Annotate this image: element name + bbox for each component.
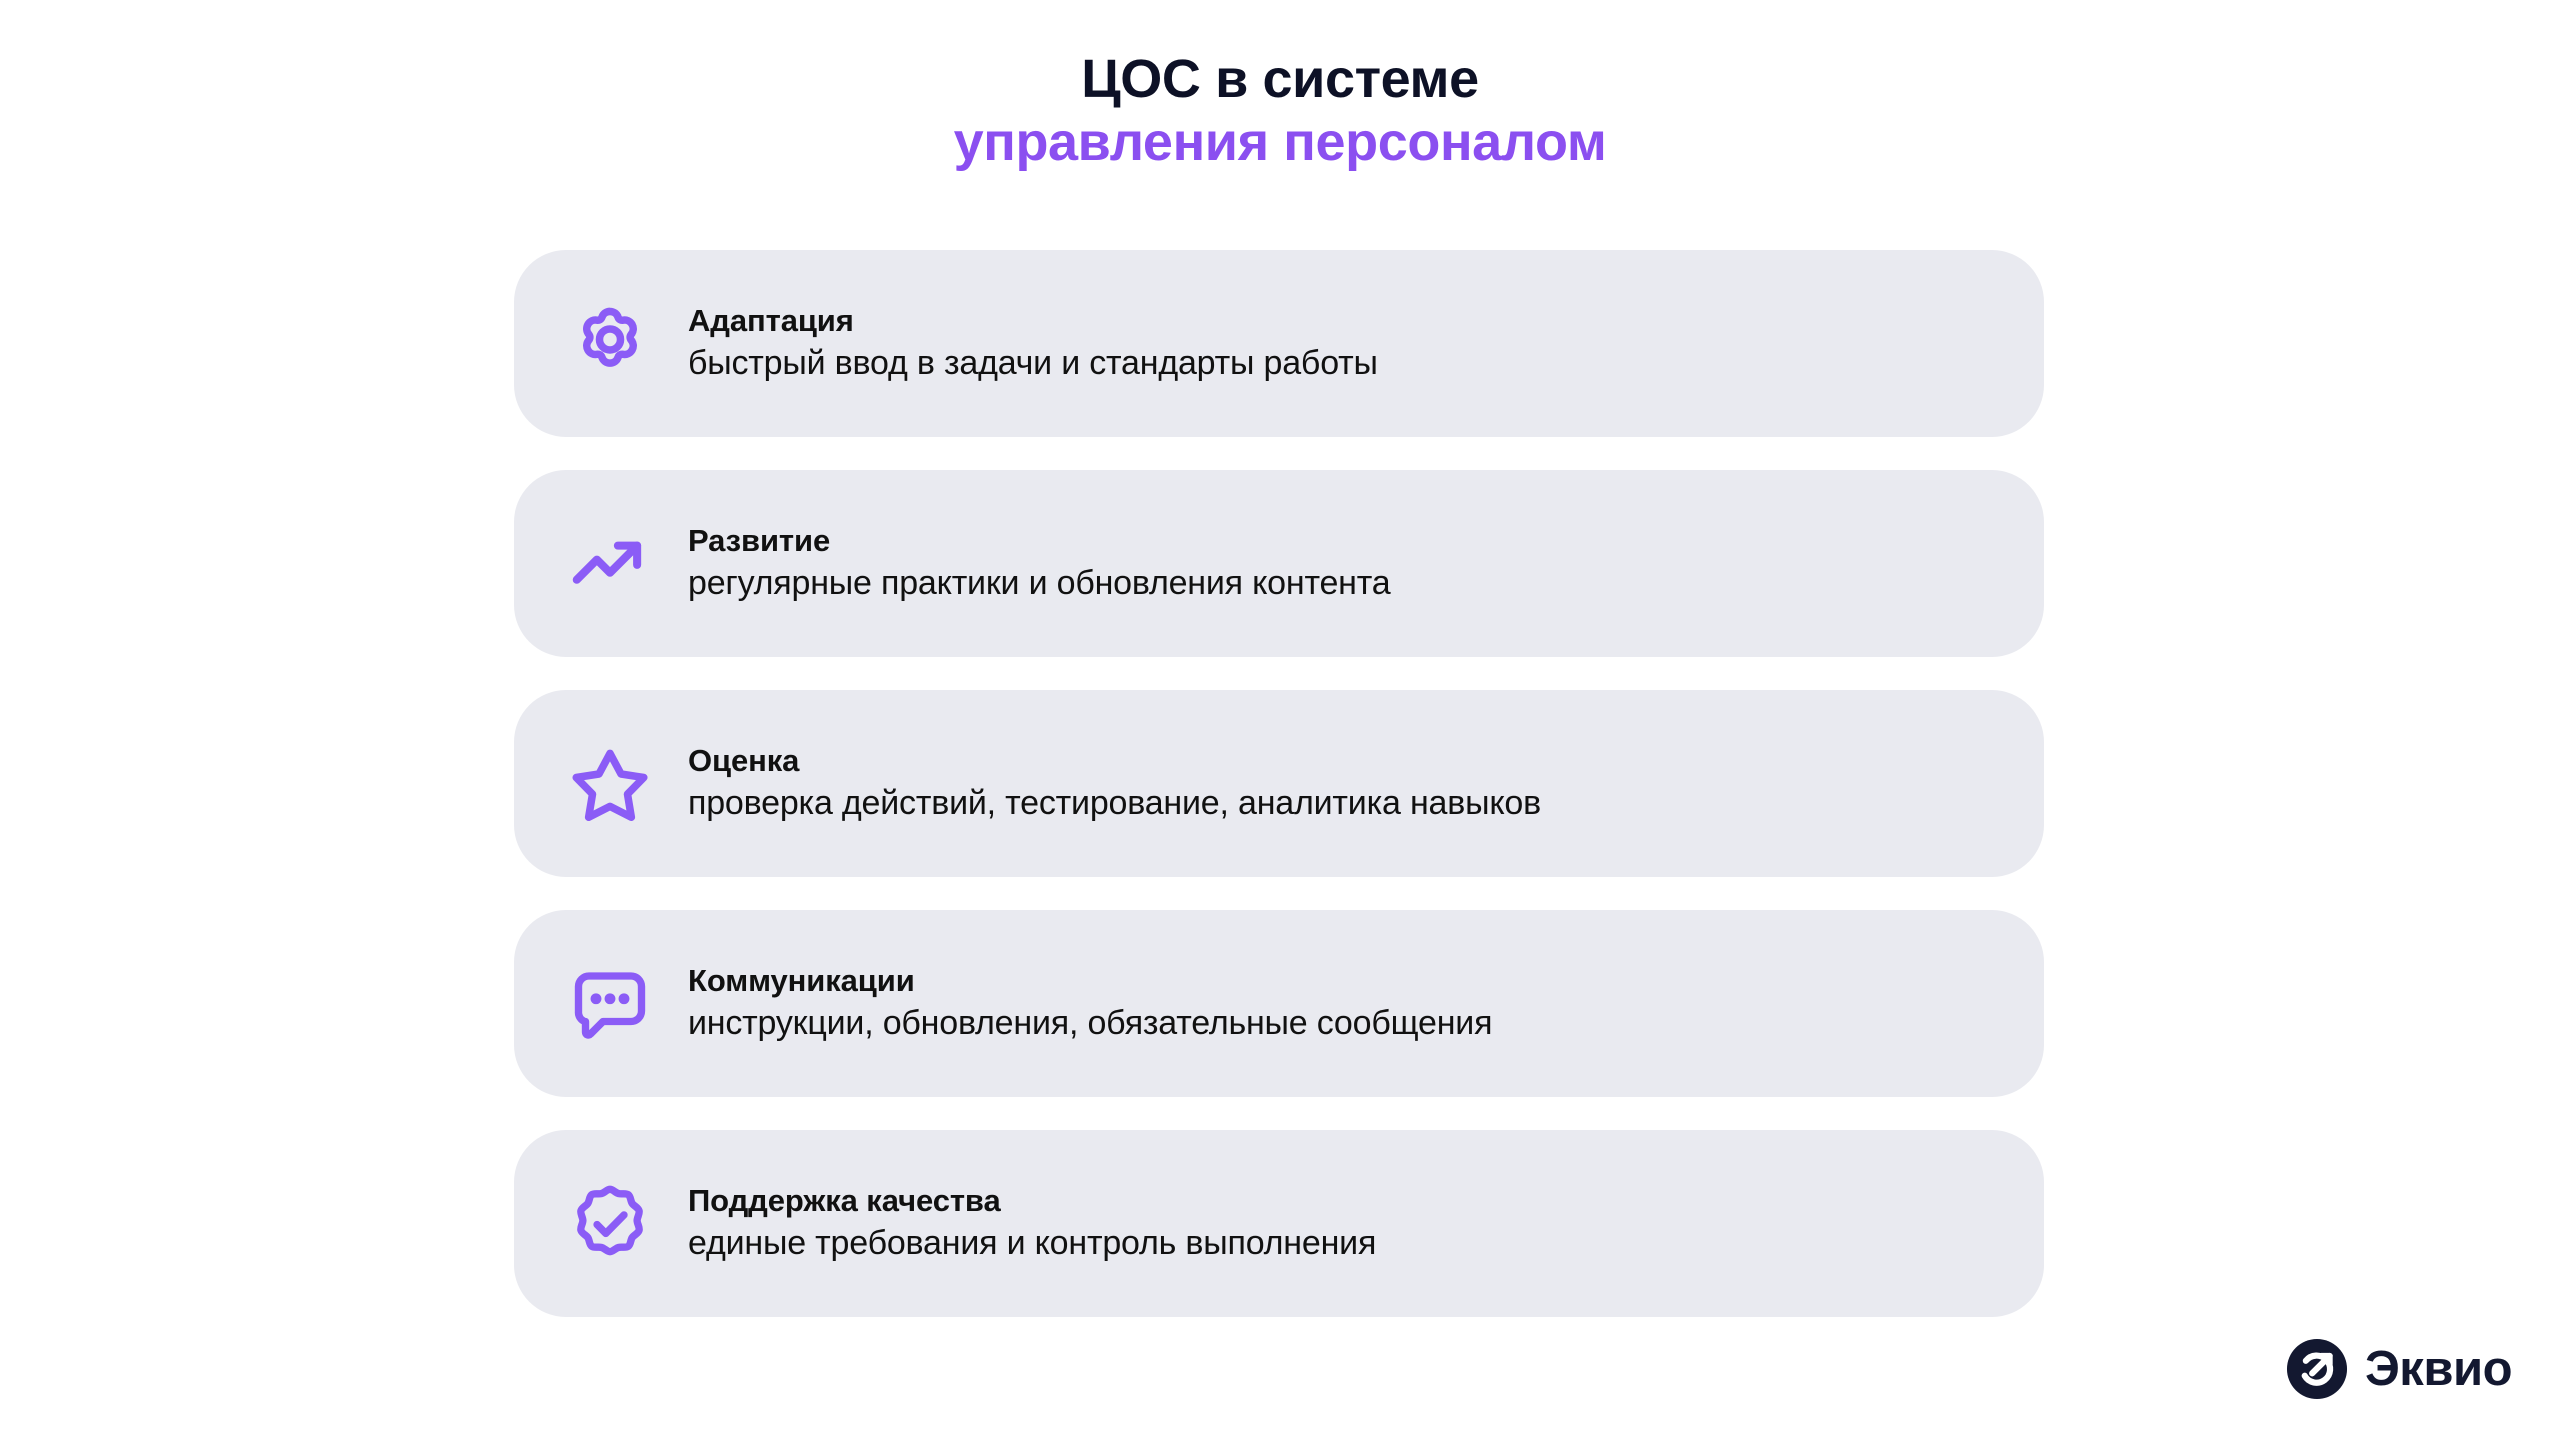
feature-card-assessment[interactable]: Оценка проверка действий, тестирование, … — [514, 690, 2044, 877]
page-title-line-2: управления персоналом — [0, 111, 2560, 174]
slide-root: ЦОС в системе управления персоналом Адап… — [0, 0, 2560, 1440]
card-description: инструкции, обновления, обязательные соо… — [688, 1001, 1492, 1047]
card-description: быстрый ввод в задачи и стандарты работы — [688, 341, 1378, 387]
card-text: Адаптация быстрый ввод в задачи и станда… — [688, 301, 1378, 386]
card-text: Поддержка качества единые требования и к… — [688, 1181, 1376, 1266]
card-title: Оценка — [688, 741, 1541, 781]
chat-bubble-dots-icon — [558, 952, 662, 1056]
card-text: Оценка проверка действий, тестирование, … — [688, 741, 1541, 826]
card-title: Развитие — [688, 521, 1390, 561]
ekvio-circle-mark — [2286, 1338, 2348, 1400]
feature-card-development[interactable]: Развитие регулярные практики и обновлени… — [514, 470, 2044, 657]
card-title: Адаптация — [688, 301, 1378, 341]
card-description: регулярные практики и обновления контент… — [688, 561, 1390, 607]
feature-card-adaptation[interactable]: Адаптация быстрый ввод в задачи и станда… — [514, 250, 2044, 437]
card-title: Поддержка качества — [688, 1181, 1376, 1221]
card-text: Коммуникации инструкции, обновления, обя… — [688, 961, 1492, 1046]
page-title-line-1: ЦОС в системе — [0, 48, 2560, 111]
card-description: единые требования и контроль выполнения — [688, 1221, 1376, 1267]
card-description: проверка действий, тестирование, аналити… — [688, 781, 1541, 827]
feature-card-list: Адаптация быстрый ввод в задачи и станда… — [514, 250, 2044, 1317]
page-title: ЦОС в системе управления персоналом — [0, 48, 2560, 174]
trending-up-icon — [558, 512, 662, 616]
star-icon — [558, 732, 662, 836]
gear-icon — [558, 292, 662, 396]
brand-logo: Эквио — [2286, 1338, 2512, 1400]
feature-card-communications[interactable]: Коммуникации инструкции, обновления, обя… — [514, 910, 2044, 1097]
verified-badge-icon — [558, 1172, 662, 1276]
card-text: Развитие регулярные практики и обновлени… — [688, 521, 1390, 606]
card-title: Коммуникации — [688, 961, 1492, 1001]
feature-card-quality-support[interactable]: Поддержка качества единые требования и к… — [514, 1130, 2044, 1317]
brand-wordmark: Эквио — [2365, 1345, 2512, 1394]
